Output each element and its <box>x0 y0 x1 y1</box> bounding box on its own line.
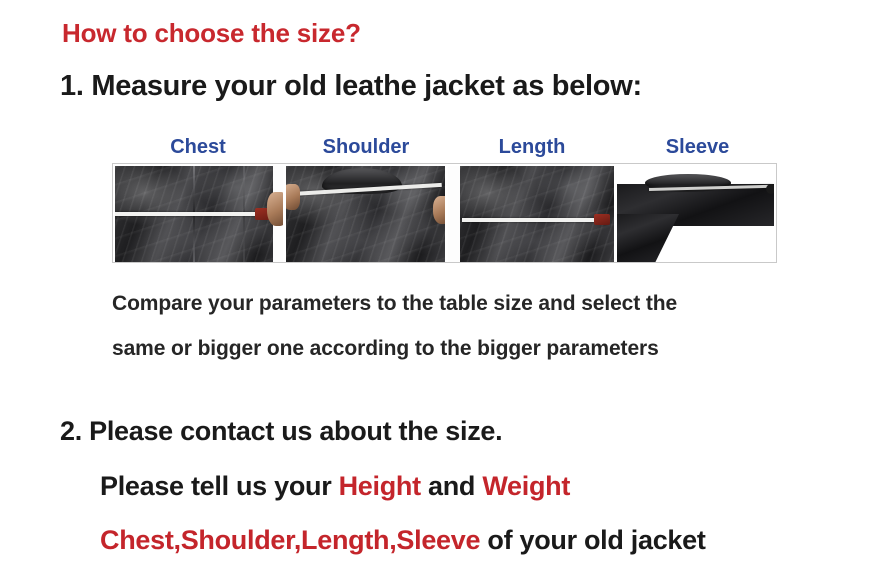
jacket-parts-line: Chest,Shoulder,Length,Sleeve of your old… <box>100 525 706 556</box>
height-highlight: Height <box>339 471 421 501</box>
tell-middle-text: and <box>421 471 483 501</box>
measurement-labels-row: Chest Shoulder Length Sleeve <box>112 136 777 164</box>
chest-tape-line <box>115 212 263 216</box>
measurement-label-shoulder: Shoulder <box>285 136 447 159</box>
jacket-body-under-sleeve <box>617 214 679 262</box>
compare-instruction-line-1: Compare your parameters to the table siz… <box>112 292 677 316</box>
step-1-heading: 1. Measure your old leathe jacket as bel… <box>60 70 642 103</box>
leather-texture <box>460 166 614 262</box>
compare-instruction-line-2: same or bigger one according to the bigg… <box>112 337 659 361</box>
measurement-label-sleeve: Sleeve <box>618 136 777 159</box>
measurement-label-chest: Chest <box>112 136 284 159</box>
jacket-length-measure-photo <box>448 166 614 262</box>
tape-measure-head <box>766 184 774 194</box>
hand-holding-tape <box>267 192 283 226</box>
weight-highlight: Weight <box>482 471 570 501</box>
jacket-shoulder-measure-photo <box>286 166 445 262</box>
jacket-sleeve-measure-photo <box>617 166 774 262</box>
tape-measure-head <box>594 214 610 225</box>
measurement-label-length: Length <box>448 136 616 159</box>
hand-holding-tape-right <box>433 196 445 224</box>
jacket-parts-highlight: Chest,Shoulder,Length,Sleeve <box>100 525 480 555</box>
jacket-chest-measure-photo <box>115 166 283 262</box>
size-guide-page: How to choose the size? 1. Measure your … <box>0 0 872 586</box>
tell-prefix-text: Please tell us your <box>100 471 339 501</box>
hand-holding-tape <box>286 184 300 210</box>
step-2-heading: 2. Please contact us about the size. <box>60 416 502 447</box>
page-title: How to choose the size? <box>62 18 361 49</box>
length-tape-line <box>462 218 602 222</box>
jacket-parts-suffix: of your old jacket <box>480 525 705 555</box>
photo-edge-fade <box>448 166 460 262</box>
tell-us-line: Please tell us your Height and Weight <box>100 471 570 502</box>
measurement-photo-strip <box>112 163 777 263</box>
